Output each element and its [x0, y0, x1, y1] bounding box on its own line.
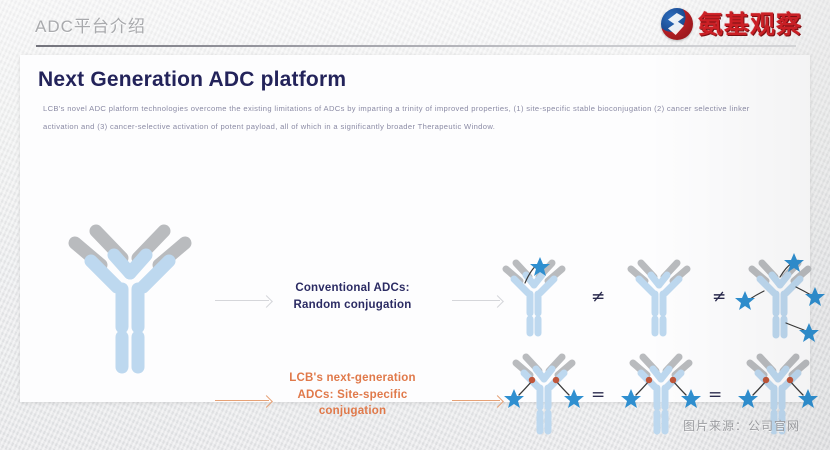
operator-top-2: ≠ — [712, 287, 726, 307]
antibody-conventional-2 — [623, 253, 695, 339]
reference-antibody — [55, 205, 205, 385]
linker-site-icon — [787, 377, 793, 383]
payload-star-icon — [735, 291, 755, 310]
slide-screenshot: ADC平台介绍 氨基观察 Next Generation ADC platfor… — [0, 0, 830, 450]
payload-star-icon — [681, 389, 701, 408]
payload-star-icon — [798, 389, 818, 408]
slide-heading: Next Generation ADC platform — [38, 68, 346, 92]
payload-star-icon — [799, 323, 819, 342]
linker-site-icon — [553, 377, 559, 383]
linker-site-icon — [670, 377, 676, 383]
operator-top-1: ≠ — [591, 287, 605, 307]
linker-site-icon — [763, 377, 769, 383]
caption-sitespecific-line3: conjugation — [260, 403, 445, 420]
antibody-sitespecific-1 — [498, 353, 590, 441]
page-title: ADC平台介绍 — [35, 12, 146, 37]
arrow-conventional-right — [452, 295, 504, 307]
adc-diagram: Conventional ADCs: Random conjugation LC… — [20, 195, 810, 395]
top-bar: ADC平台介绍 氨基观察 — [0, 0, 830, 52]
antibody-large-icon — [55, 205, 205, 380]
operator-bottom-1: = — [591, 385, 605, 405]
caption-sitespecific-line2: ADCs: Site-specific — [260, 387, 445, 404]
caption-site-specific: LCB's next-generation ADCs: Site-specifi… — [260, 370, 445, 420]
payload-star-icon — [621, 389, 641, 408]
payload-star-icon — [805, 287, 825, 306]
payload-star-icon — [564, 389, 584, 408]
payload-star-icon — [504, 389, 524, 408]
brand-logo: 氨基观察 — [661, 6, 802, 42]
image-credit: 图片来源：公司官网 — [683, 417, 800, 434]
header-divider — [36, 45, 796, 47]
caption-sitespecific-line1: LCB's next-generation — [260, 370, 445, 387]
linker-site-icon — [646, 377, 652, 383]
slide-body-text: LCB's novel ADC platform technologies ov… — [43, 100, 783, 136]
logo-emblem-icon — [661, 8, 693, 40]
payload-star-icon — [738, 389, 758, 408]
operator-bottom-2: = — [708, 385, 722, 405]
caption-conventional-line1: Conventional ADCs: — [260, 280, 445, 297]
slide-panel: Next Generation ADC platform LCB's novel… — [20, 55, 810, 402]
caption-conventional-line2: Random conjugation — [260, 297, 445, 314]
antibody-conventional-1 — [498, 253, 570, 339]
logo-wordmark: 氨基观察 — [698, 12, 802, 37]
linker-site-icon — [529, 377, 535, 383]
arrow-sitespecific-right — [452, 395, 504, 407]
caption-conventional: Conventional ADCs: Random conjugation — [260, 280, 445, 313]
antibody-conventional-3 — [734, 247, 826, 343]
